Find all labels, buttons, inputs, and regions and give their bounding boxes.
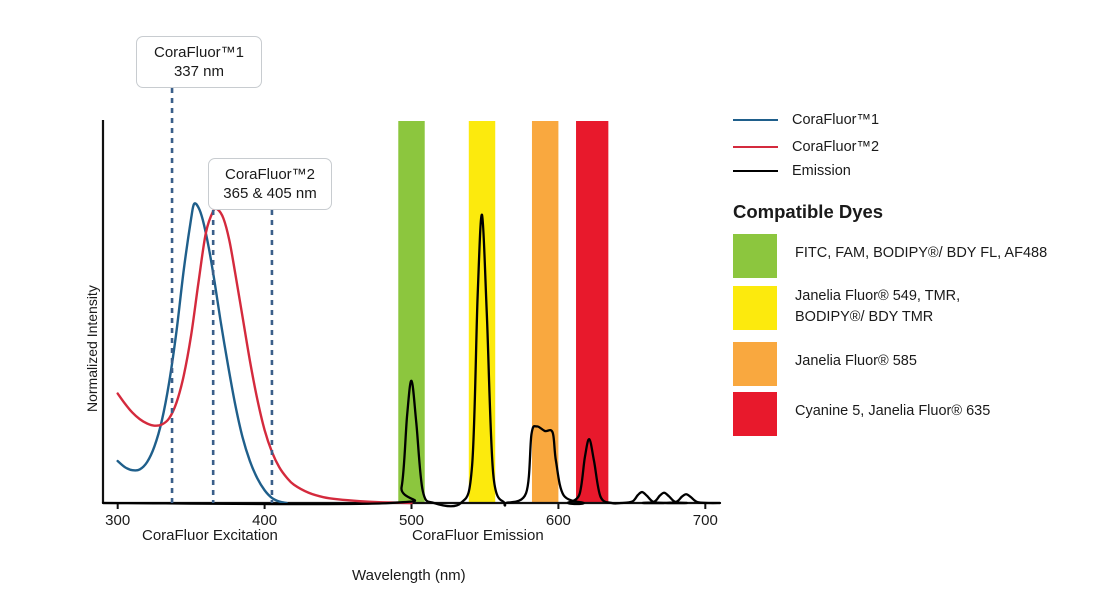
dye-color-swatch <box>733 234 777 278</box>
legend-line-swatch <box>733 146 778 148</box>
dye-label: Cyanine 5, Janelia Fluor® 635 <box>795 392 990 422</box>
dye-color-swatch <box>733 392 777 436</box>
legend-line-swatch <box>733 119 778 121</box>
corafluor2-callout: CoraFluor™2 365 & 405 nm <box>208 158 332 210</box>
legend-item-corafluor1: CoraFluor™1 <box>733 112 879 128</box>
dye-label: Janelia Fluor® 549, TMR, BODIPY®/ BDY TM… <box>795 286 960 327</box>
legend-label: CoraFluor™1 <box>792 112 879 128</box>
x-tick-label-500: 500 <box>387 512 437 529</box>
dye-color-swatch <box>733 342 777 386</box>
legend-label: Emission <box>792 163 851 179</box>
x-tick-label-600: 600 <box>533 512 583 529</box>
legend-item-corafluor2: CoraFluor™2 <box>733 139 879 155</box>
x-axis-title: Wavelength (nm) <box>352 567 466 584</box>
dye-label: Janelia Fluor® 585 <box>795 342 917 372</box>
corafluor1-callout: CoraFluor™1 337 nm <box>136 36 262 88</box>
dye-label-line: FITC, FAM, BODIPY®/ BDY FL, AF488 <box>795 243 1047 264</box>
legend-item-emission: Emission <box>733 163 851 179</box>
dye-label-line: BODIPY®/ BDY TMR <box>795 307 960 328</box>
y-axis-label: Normalized Intensity <box>84 285 100 412</box>
legend-label: CoraFluor™2 <box>792 139 879 155</box>
dye-color-swatch <box>733 286 777 330</box>
dye-item-green: FITC, FAM, BODIPY®/ BDY FL, AF488 <box>733 234 1047 278</box>
dye-item-red: Cyanine 5, Janelia Fluor® 635 <box>733 392 990 436</box>
excitation-region-label: CoraFluor Excitation <box>142 527 278 544</box>
legend-line-swatch <box>733 170 778 172</box>
green-band <box>398 121 424 503</box>
dye-item-yellow: Janelia Fluor® 549, TMR, BODIPY®/ BDY TM… <box>733 286 960 330</box>
x-tick-label-400: 400 <box>240 512 290 529</box>
x-tick-label-700: 700 <box>680 512 730 529</box>
dye-label: FITC, FAM, BODIPY®/ BDY FL, AF488 <box>795 234 1047 264</box>
series-line-corafluor-2 <box>118 208 412 503</box>
dye-label-line: Janelia Fluor® 549, TMR, <box>795 286 960 307</box>
compatible-dyes-title: Compatible Dyes <box>733 201 883 223</box>
emission-region-label: CoraFluor Emission <box>412 527 544 544</box>
callout-line1: CoraFluor™2 <box>225 165 315 184</box>
dye-item-orange: Janelia Fluor® 585 <box>733 342 917 386</box>
callout-line2: 337 nm <box>174 62 224 81</box>
dye-label-line: Janelia Fluor® 585 <box>795 351 917 372</box>
callout-line1: CoraFluor™1 <box>154 43 244 62</box>
dye-label-line: Cyanine 5, Janelia Fluor® 635 <box>795 401 990 422</box>
chart-figure: CoraFluor™1 337 nm CoraFluor™2 365 & 405… <box>0 0 1110 612</box>
x-tick-label-300: 300 <box>93 512 143 529</box>
callout-line2: 365 & 405 nm <box>223 184 316 203</box>
